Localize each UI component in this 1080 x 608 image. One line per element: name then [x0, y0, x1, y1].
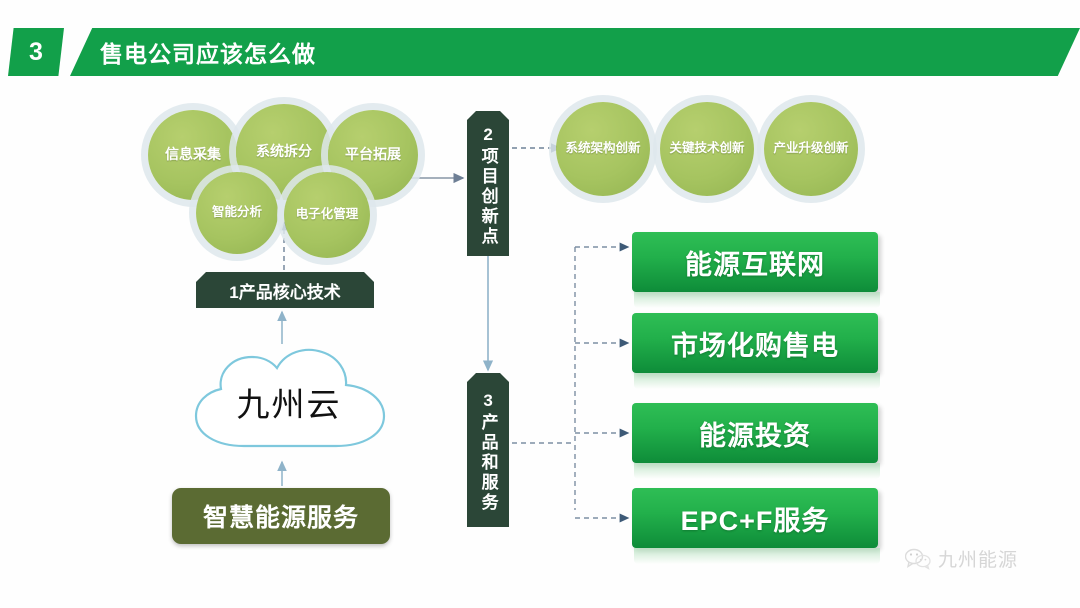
- service-button-4-label: EPC+F服务: [681, 499, 830, 538]
- core-tech-label: 1产品核心技术: [229, 278, 340, 303]
- innovation-circle-2[interactable]: 关键技术创新: [660, 102, 754, 196]
- header-section-number: 3: [8, 28, 64, 76]
- tech-circle-2-label: 系统拆分: [256, 144, 312, 159]
- service-button-3-reflection: [634, 463, 880, 479]
- service-button-4[interactable]: EPC+F服务: [632, 488, 878, 548]
- core-tech-box[interactable]: 1产品核心技术: [196, 272, 374, 308]
- products-stage-box[interactable]: 3产品和服务: [467, 373, 509, 527]
- tech-circle-4-label: 智能分析: [212, 206, 262, 220]
- cloud-label: 九州云: [182, 342, 396, 462]
- wechat-icon: [905, 548, 931, 570]
- tech-circle-5[interactable]: 电子化管理: [284, 172, 370, 258]
- innovation-stage-box[interactable]: 2项目创新点: [467, 111, 509, 256]
- page-title: 售电公司应该怎么做: [100, 28, 316, 76]
- service-button-1-reflection: [634, 292, 880, 308]
- tech-circle-1-label: 信息采集: [165, 147, 221, 162]
- service-button-1[interactable]: 能源互联网: [632, 232, 878, 292]
- innovation-circle-3-label: 产业升级创新: [773, 142, 848, 156]
- service-button-4-reflection: [634, 548, 880, 564]
- products-stage-label: 3产品和服务: [477, 391, 498, 513]
- innovation-circle-3[interactable]: 产业升级创新: [764, 102, 858, 196]
- cloud-shape[interactable]: 九州云: [182, 342, 396, 462]
- tech-circle-5-label: 电子化管理: [296, 208, 359, 222]
- slide-canvas: 3 售电公司应该怎么做: [0, 0, 1080, 608]
- service-button-3[interactable]: 能源投资: [632, 403, 878, 463]
- watermark: 九州能源: [905, 545, 1018, 572]
- smart-energy-service-label: 智慧能源服务: [203, 498, 359, 534]
- innovation-circle-1[interactable]: 系统架构创新: [556, 102, 650, 196]
- service-button-1-label: 能源互联网: [685, 243, 825, 282]
- innovation-stage-label: 2项目创新点: [477, 125, 498, 247]
- smart-energy-service-box[interactable]: 智慧能源服务: [172, 488, 390, 544]
- service-button-2-label: 市场化购售电: [671, 324, 839, 363]
- service-button-2[interactable]: 市场化购售电: [632, 313, 878, 373]
- connector-layer: [0, 0, 1080, 608]
- service-button-2-reflection: [634, 373, 880, 389]
- innovation-circle-1-label: 系统架构创新: [565, 142, 640, 156]
- innovation-circle-2-label: 关键技术创新: [669, 142, 744, 156]
- watermark-text: 九州能源: [938, 545, 1018, 572]
- tech-circle-3-label: 平台拓展: [345, 147, 401, 162]
- service-button-3-label: 能源投资: [699, 414, 811, 453]
- tech-circle-4[interactable]: 智能分析: [196, 172, 278, 254]
